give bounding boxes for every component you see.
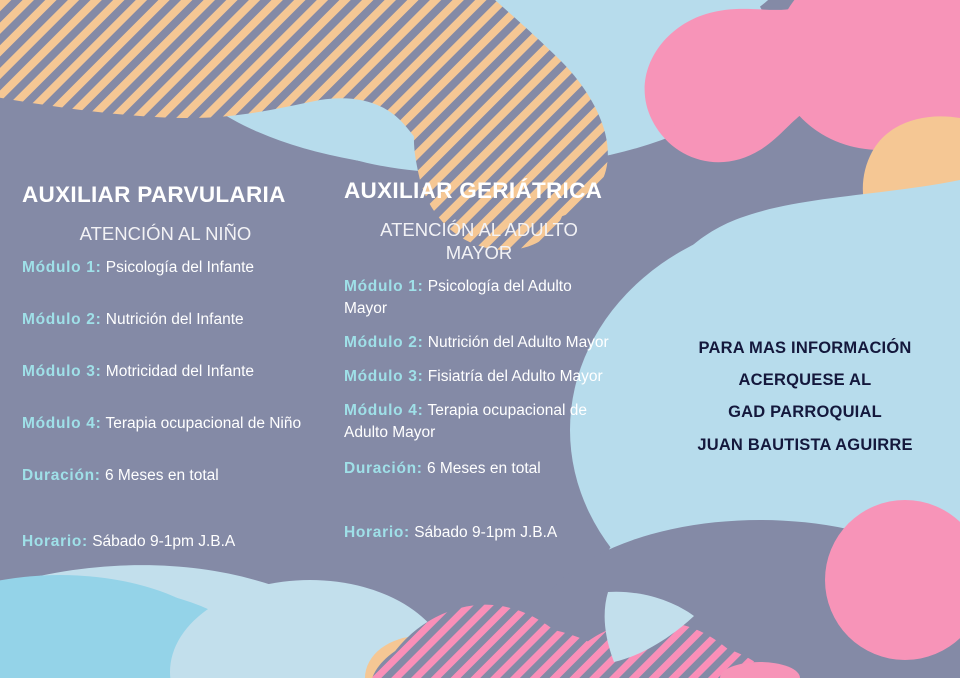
module-item: Módulo 1: Psicología del Infante (22, 257, 337, 279)
module-text: Psicología del Infante (106, 259, 254, 276)
module-item: Módulo 2: Nutrición del Infante (22, 309, 337, 331)
module-item: Módulo 3: Motricidad del Infante (22, 361, 337, 383)
course-title-parvularia: AUXILIAR PARVULARIA (22, 182, 337, 208)
duration-value: 6 Meses en total (105, 467, 219, 484)
duration-label: Duración: (22, 467, 101, 484)
contact-info-line: ACERQUESE AL (660, 364, 950, 396)
module-text: Nutrición del Adulto Mayor (428, 334, 609, 351)
course-column-parvularia: AUXILIAR PARVULARIA ATENCIÓN AL NIÑO Mód… (22, 182, 337, 553)
course-duration: Duración: 6 Meses en total (22, 465, 337, 487)
contact-info-line: GAD PARROQUIAL (660, 396, 950, 428)
course-title-geriatrica: AUXILIAR GERIÁTRICA (344, 178, 614, 204)
duration-value: 6 Meses en total (427, 460, 541, 477)
module-label: Módulo 2: (344, 334, 423, 351)
module-item: Módulo 1: Psicología del Adulto Mayor (344, 276, 614, 320)
course-duration: Duración: 6 Meses en total (344, 458, 614, 480)
contact-info-line: JUAN BAUTISTA AGUIRRE (660, 429, 950, 461)
contact-info-line: PARA MAS INFORMACIÓN (660, 332, 950, 364)
duration-label: Duración: (344, 460, 423, 477)
module-label: Módulo 4: (22, 415, 101, 432)
course-subtitle-parvularia: ATENCIÓN AL NIÑO (22, 222, 337, 245)
module-text: Nutrición del Infante (106, 311, 244, 328)
poster-canvas: AUXILIAR PARVULARIA ATENCIÓN AL NIÑO Mód… (0, 0, 960, 678)
schedule-label: Horario: (344, 524, 410, 541)
module-text: Fisiatría del Adulto Mayor (428, 368, 603, 385)
module-item: Módulo 4: Terapia ocupacional de Adulto … (344, 400, 614, 444)
module-text: Terapia ocupacional de Niño (106, 415, 302, 432)
course-subtitle-geriatrica: ATENCIÓN AL ADULTO MAYOR (344, 218, 614, 264)
course-column-geriatrica: AUXILIAR GERIÁTRICA ATENCIÓN AL ADULTO M… (344, 178, 614, 544)
schedule-value: Sábado 9-1pm J.B.A (92, 533, 235, 550)
module-label: Módulo 4: (344, 402, 423, 419)
module-text: Motricidad del Infante (106, 363, 254, 380)
course-schedule: Horario: Sábado 9-1pm J.B.A (344, 522, 614, 544)
module-item: Módulo 2: Nutrición del Adulto Mayor (344, 332, 614, 354)
course-schedule: Horario: Sábado 9-1pm J.B.A (22, 531, 337, 553)
module-item: Módulo 4: Terapia ocupacional de Niño (22, 413, 337, 435)
module-label: Módulo 3: (344, 368, 423, 385)
module-label: Módulo 3: (22, 363, 101, 380)
module-label: Módulo 2: (22, 311, 101, 328)
module-label: Módulo 1: (22, 259, 101, 276)
contact-info-block: PARA MAS INFORMACIÓN ACERQUESE AL GAD PA… (660, 332, 950, 461)
module-item: Módulo 3: Fisiatría del Adulto Mayor (344, 366, 614, 388)
schedule-label: Horario: (22, 533, 88, 550)
module-label: Módulo 1: (344, 278, 423, 295)
poster-content: AUXILIAR PARVULARIA ATENCIÓN AL NIÑO Mód… (0, 0, 960, 678)
schedule-value: Sábado 9-1pm J.B.A (414, 524, 557, 541)
